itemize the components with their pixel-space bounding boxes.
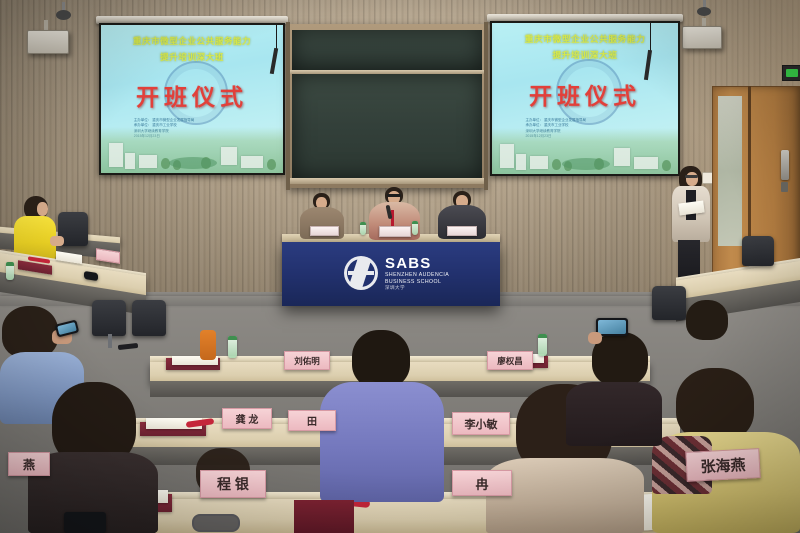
- security-camera-left: [56, 10, 71, 20]
- sabs-line1: SHENZHEN AUDENCIA: [385, 273, 449, 278]
- campus-illustration-right: [492, 128, 678, 174]
- placard-cheng-yin: 程 银: [200, 470, 266, 498]
- door-lock[interactable]: [781, 182, 788, 192]
- chair-right-b: [652, 286, 686, 320]
- row1-bottle-b: [538, 334, 547, 356]
- water-bottle-head-table-1: [360, 222, 366, 235]
- head-table-nameplate-right: [447, 226, 477, 236]
- sabs-abbr: SABS: [385, 256, 449, 271]
- exit-sign: [782, 65, 800, 81]
- water-bottle-left: [6, 262, 14, 280]
- speaker-center-glasses: [387, 194, 401, 197]
- attendee-purple-head: [352, 330, 410, 388]
- chair-row2-a: [92, 300, 126, 336]
- projection-screen-left: 重庆市微型企业公共服务能力 提升培训深大班 开班仪式 主办单位： 重庆市微型企业…: [99, 23, 285, 175]
- projection-main-text-right: 开班仪式: [503, 77, 667, 111]
- blackboard-upper-panel: [292, 30, 482, 70]
- projection-screen-right: 重庆市微型企业公共服务能力 提升培训深大班 开班仪式 主办单位： 重庆市微型企业…: [490, 21, 680, 176]
- yellow-woman-face: [37, 202, 48, 216]
- placard-yan: 燕: [8, 452, 50, 476]
- campus-illustration-left: [101, 127, 283, 173]
- placard-tian: 田: [288, 410, 336, 431]
- placard-liao-quanchang: 廖权昌: [487, 351, 533, 370]
- chair-row2-b: [132, 300, 166, 336]
- attendee-right-head: [676, 368, 754, 442]
- sabs-line3: 深圳大学: [385, 286, 449, 291]
- blackboard-right-post: [484, 22, 488, 190]
- projection-title-line1-left: 重庆市微型企业公共服务能力: [108, 36, 275, 47]
- attendee-camera-body: [566, 382, 662, 446]
- head-table-nameplate-center: [379, 226, 411, 237]
- attendee-blue-head: [2, 306, 58, 358]
- attendee-purple-top: [320, 382, 444, 502]
- placard-ran: 冉: [452, 470, 512, 496]
- eyeglasses: [192, 514, 240, 532]
- placard-gong-long: 龚 龙: [222, 408, 272, 429]
- sabs-logo: SABS SHENZHEN AUDENCIA BUSINESS SCHOOL 深…: [344, 256, 449, 291]
- chair-stem-a: [108, 334, 112, 348]
- attendee-camera-hand: [588, 332, 602, 344]
- projection-title-line1-right: 重庆市微型企业公共服务能力: [499, 34, 670, 45]
- head-table-banner: SABS SHENZHEN AUDENCIA BUSINESS SCHOOL 深…: [282, 242, 500, 306]
- wall-speaker-left: [27, 30, 69, 54]
- row1-bottle-a: [228, 336, 237, 358]
- blackboard-lower-panel: [292, 74, 482, 178]
- screen-pull-cord-right: [650, 22, 651, 52]
- placard-liu-youming: 刘佑明: [284, 351, 330, 370]
- blackboard-chalk-tray: [288, 178, 486, 184]
- blackboard-left-post: [286, 22, 290, 190]
- front-desk-phone[interactable]: [64, 512, 106, 533]
- water-bottle-head-table-2: [412, 221, 418, 235]
- attendee-farright-head: [686, 300, 728, 340]
- door-handle[interactable]: [781, 150, 789, 180]
- placard-zhang-haiyan: 张海燕: [685, 448, 760, 482]
- standing-woman-glasses: [685, 175, 698, 178]
- wall-speaker-right: [682, 26, 722, 49]
- chair-right-a: [742, 236, 774, 266]
- lecture-hall-photo: 重庆市微型企业公共服务能力 提升培训深大班 开班仪式 主办单位： 重庆市微型企业…: [0, 0, 800, 533]
- projection-main-text-left: 开班仪式: [112, 78, 272, 112]
- placard-li-xiaomin: 李小敏: [452, 412, 510, 435]
- security-camera-right: [697, 7, 711, 16]
- projection-title-line2-right: 提升培训深大班: [499, 50, 670, 61]
- door-glass-panel: [718, 96, 742, 246]
- orange-bag: [200, 330, 216, 360]
- front-folder: [294, 500, 354, 533]
- projection-title-line2-left: 提升培训深大班: [108, 52, 275, 63]
- head-table-nameplate-left: [310, 226, 339, 236]
- sabs-mark-icon: [344, 256, 378, 290]
- screen-pull-cord-left: [276, 24, 277, 50]
- yellow-woman-hands: [50, 236, 64, 246]
